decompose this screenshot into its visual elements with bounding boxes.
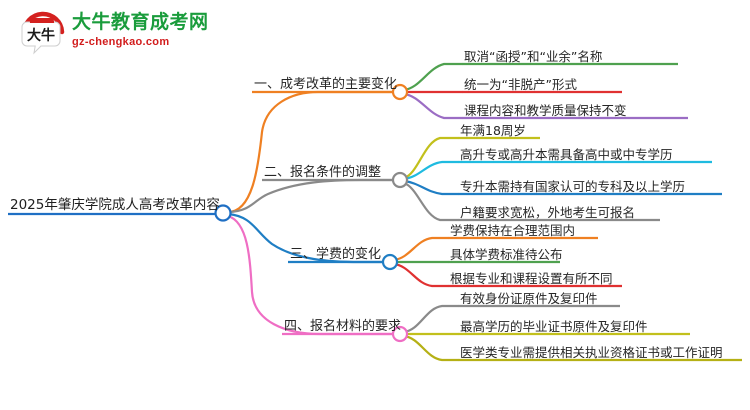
branch-2-node-circle (393, 173, 407, 187)
leaf-node-label-3-1[interactable]: 学费保持在合理范围内 (450, 225, 575, 238)
connector-root-branch-1 (228, 92, 396, 212)
connector-root-branch-4 (228, 216, 396, 334)
connector-b1-child-1 (404, 64, 462, 90)
root-node-label[interactable]: 2025年肇庆学院成人高考改革内容 (10, 199, 220, 213)
branch-3-node-circle (383, 255, 397, 269)
connector-b2-child-1 (404, 138, 458, 178)
leaf-node-label-3-2[interactable]: 具体学费标准待公布 (450, 249, 563, 262)
connector-b3-child-1 (394, 238, 448, 260)
leaf-node-label-1-3[interactable]: 课程内容和教学质量保持不变 (464, 105, 627, 118)
connector-b2-child-4 (404, 183, 458, 220)
branch-node-label-3[interactable]: 三、学费的变化 (290, 248, 381, 261)
mindmap-page: 大牛 大牛教育成考网 gz-chengkao.com (0, 0, 750, 410)
branch-node-label-2[interactable]: 二、报名条件的调整 (264, 166, 381, 179)
leaf-node-label-1-2[interactable]: 统一为“非脱产”形式 (464, 79, 577, 92)
leaf-node-label-2-2[interactable]: 高升专或高升本需具备高中或中专学历 (460, 149, 673, 162)
leaf-node-label-2-4[interactable]: 户籍要求宽松，外地考生可报名 (460, 207, 635, 220)
connector-b4-child-3 (404, 336, 458, 360)
leaf-node-label-1-1[interactable]: 取消“函授”和“业余”名称 (464, 51, 602, 64)
branch-node-label-1[interactable]: 一、成考改革的主要变化 (254, 78, 397, 91)
leaf-node-label-2-3[interactable]: 专升本需持有国家认可的专科及以上学历 (460, 181, 685, 194)
leaf-node-label-3-3[interactable]: 根据专业和课程设置有所不同 (450, 273, 613, 286)
connector-b3-child-3 (394, 264, 448, 286)
branch-node-label-4[interactable]: 四、报名材料的要求 (284, 320, 401, 333)
leaf-node-label-4-3[interactable]: 医学类专业需提供相关执业资格证书或工作证明 (460, 347, 723, 360)
leaf-node-label-2-1[interactable]: 年满18周岁 (460, 125, 526, 138)
connector-b1-child-3 (404, 94, 462, 118)
leaf-node-label-4-1[interactable]: 有效身份证原件及复印件 (460, 293, 598, 306)
leaf-node-label-4-2[interactable]: 最高学历的毕业证书原件及复印件 (460, 321, 648, 334)
connector-b4-child-1 (404, 306, 458, 332)
